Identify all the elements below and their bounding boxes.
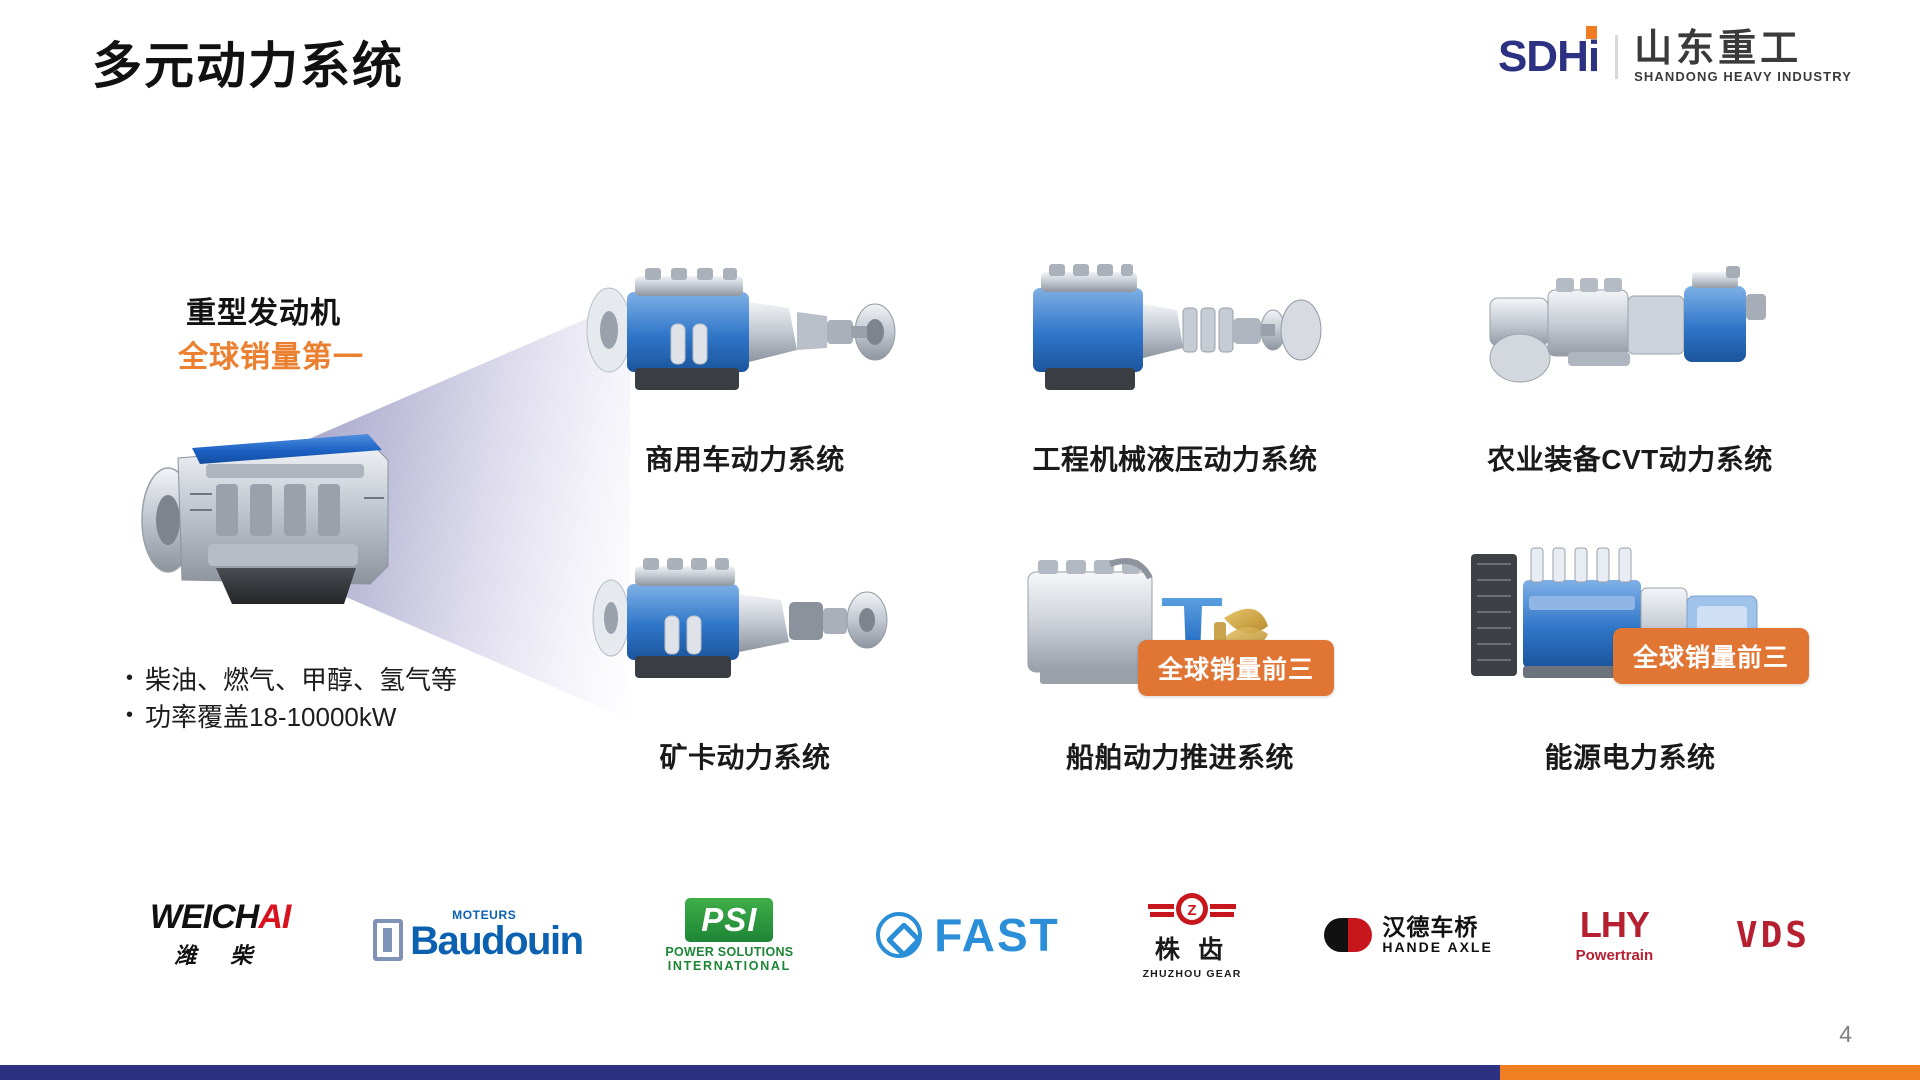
product-card-construction-hydraulic: 工程机械液压动力系统: [990, 250, 1360, 478]
lhy-subtitle: Powertrain: [1576, 947, 1654, 964]
hande-text-block: 汉德车桥 HANDE AXLE: [1382, 915, 1493, 956]
product-caption: 能源电力系统: [1544, 736, 1715, 776]
weichai-wordmark: WEICHAI: [150, 900, 290, 934]
baudouin-text-block: MOTEURS Baudouin: [410, 909, 582, 961]
hande-mark-right: [1348, 918, 1372, 952]
hande-chinese-name: 汉德车桥: [1382, 915, 1493, 940]
brand-logo-weichai: WEICHAI 潍 柴: [150, 900, 290, 970]
list-item: • 功率覆盖18-10000kW: [126, 699, 457, 736]
hero-subheading: 全球销量第一: [178, 332, 364, 376]
psi-wordmark: PSI: [685, 898, 773, 942]
product-card-marine-propulsion: 全球销量前三 船舶动力推进系统: [990, 540, 1370, 776]
svg-text:Z: Z: [1187, 902, 1196, 919]
footer-bar-orange: [1500, 1065, 1920, 1080]
product-caption: 矿卡动力系统: [659, 736, 830, 776]
weichai-chinese-name: 潍 柴: [174, 938, 266, 970]
brand-logo-hande-axle: 汉德车桥 HANDE AXLE: [1324, 915, 1493, 956]
brand-logo-lhy: LHY Powertrain: [1576, 907, 1654, 964]
product-caption: 农业装备CVT动力系统: [1487, 438, 1773, 478]
bullet-dot-icon: •: [126, 699, 133, 731]
hero-bullet-list: • 柴油、燃气、甲醇、氢气等 • 功率覆盖18-10000kW: [126, 662, 457, 736]
baudouin-mark-icon: [373, 919, 403, 961]
psi-subtitle-line2: INTERNATIONAL: [668, 959, 791, 973]
lhy-wordmark: LHY: [1580, 907, 1649, 943]
footer-bar: [0, 1065, 1920, 1080]
baudouin-wordmark: Baudouin: [410, 921, 582, 961]
vds-wordmark: VDS: [1736, 915, 1810, 956]
brand-logo-psi: PSI POWER SOLUTIONS INTERNATIONAL: [665, 898, 793, 973]
logo-chinese-name: 山东重工: [1634, 30, 1852, 68]
brand-logo-strip: WEICHAI 潍 柴 MOTEURS Baudouin PSI POWER S…: [150, 885, 1810, 985]
product-image-wrap: [1015, 250, 1335, 420]
zhuzhou-chinese-name: 株 齿: [1155, 930, 1229, 966]
page-title: 多元动力系统: [92, 26, 404, 98]
brand-logo-zhuzhou-gear: Z 株 齿 ZHUZHOU GEAR: [1143, 890, 1242, 980]
hero-heading: 重型发动机: [186, 288, 341, 332]
heavy-duty-engine-image: [120, 398, 440, 628]
product-image-wrap: 全球销量前三: [1465, 540, 1795, 710]
product-caption: 船舶动力推进系统: [1066, 736, 1294, 776]
product-image-wrap: [1480, 250, 1780, 420]
product-image-wrap: [575, 250, 915, 420]
logo-chinese-block: 山东重工 SHANDONG HEAVY INDUSTRY: [1634, 30, 1852, 83]
bullet-text: 功率覆盖18-10000kW: [145, 699, 396, 736]
zhuzhou-gear-emblem-icon: Z: [1146, 890, 1238, 930]
bullet-dot-icon: •: [126, 662, 133, 694]
mining-truck-powertrain-image: [585, 540, 905, 705]
logo-divider: [1615, 35, 1618, 79]
product-image-wrap: 全球销量前三: [1010, 540, 1350, 710]
product-card-energy-power: 全球销量前三 能源电力系统: [1430, 540, 1830, 776]
hande-english-name: HANDE AXLE: [1382, 940, 1493, 955]
list-item: • 柴油、燃气、甲醇、氢气等: [126, 662, 457, 699]
product-card-commercial-vehicle: 商用车动力系统: [560, 250, 930, 478]
fast-swirl-icon: [876, 912, 922, 958]
product-card-agriculture-cvt: 农业装备CVT动力系统: [1430, 250, 1830, 478]
hande-mark-icon: [1324, 918, 1372, 952]
page-number: 4: [1839, 1021, 1852, 1048]
brand-logo-baudouin: MOTEURS Baudouin: [373, 909, 582, 961]
product-caption: 商用车动力系统: [645, 438, 845, 478]
hande-mark-left: [1324, 918, 1348, 952]
psi-subtitle-line1: POWER SOLUTIONS: [665, 945, 793, 959]
footer-bar-navy: [0, 1065, 1500, 1080]
status-badge: 全球销量前三: [1613, 628, 1809, 684]
status-badge: 全球销量前三: [1138, 640, 1334, 696]
product-card-mining-truck: 矿卡动力系统: [560, 540, 930, 776]
weichai-wordmark-main: WEICH: [150, 898, 258, 936]
product-image-wrap: [585, 540, 905, 710]
brand-logo-vds: VDS: [1736, 915, 1810, 956]
sdhi-wordmark: SDHi: [1498, 35, 1599, 79]
product-caption: 工程机械液压动力系统: [1032, 438, 1317, 478]
sdhi-orange-dot-icon: [1586, 26, 1597, 39]
brand-logo-fast: FAST: [876, 908, 1060, 962]
bullet-text: 柴油、燃气、甲醇、氢气等: [145, 662, 457, 699]
construction-hydraulic-powertrain-image: [1015, 250, 1335, 415]
zhuzhou-english-name: ZHUZHOU GEAR: [1143, 968, 1242, 980]
slide: 多元动力系统 SDHi 山东重工 SHANDONG HEAVY INDUSTRY…: [0, 0, 1920, 1080]
fast-wordmark: FAST: [934, 908, 1060, 962]
weichai-wordmark-accent: AI: [258, 898, 290, 936]
agriculture-cvt-powertrain-image: [1480, 250, 1780, 415]
sdhi-logo: SDHi 山东重工 SHANDONG HEAVY INDUSTRY: [1498, 30, 1852, 83]
commercial-vehicle-powertrain-image: [575, 250, 915, 415]
sdhi-wordmark-text: SDHi: [1498, 32, 1599, 81]
logo-english-name: SHANDONG HEAVY INDUSTRY: [1634, 70, 1852, 83]
